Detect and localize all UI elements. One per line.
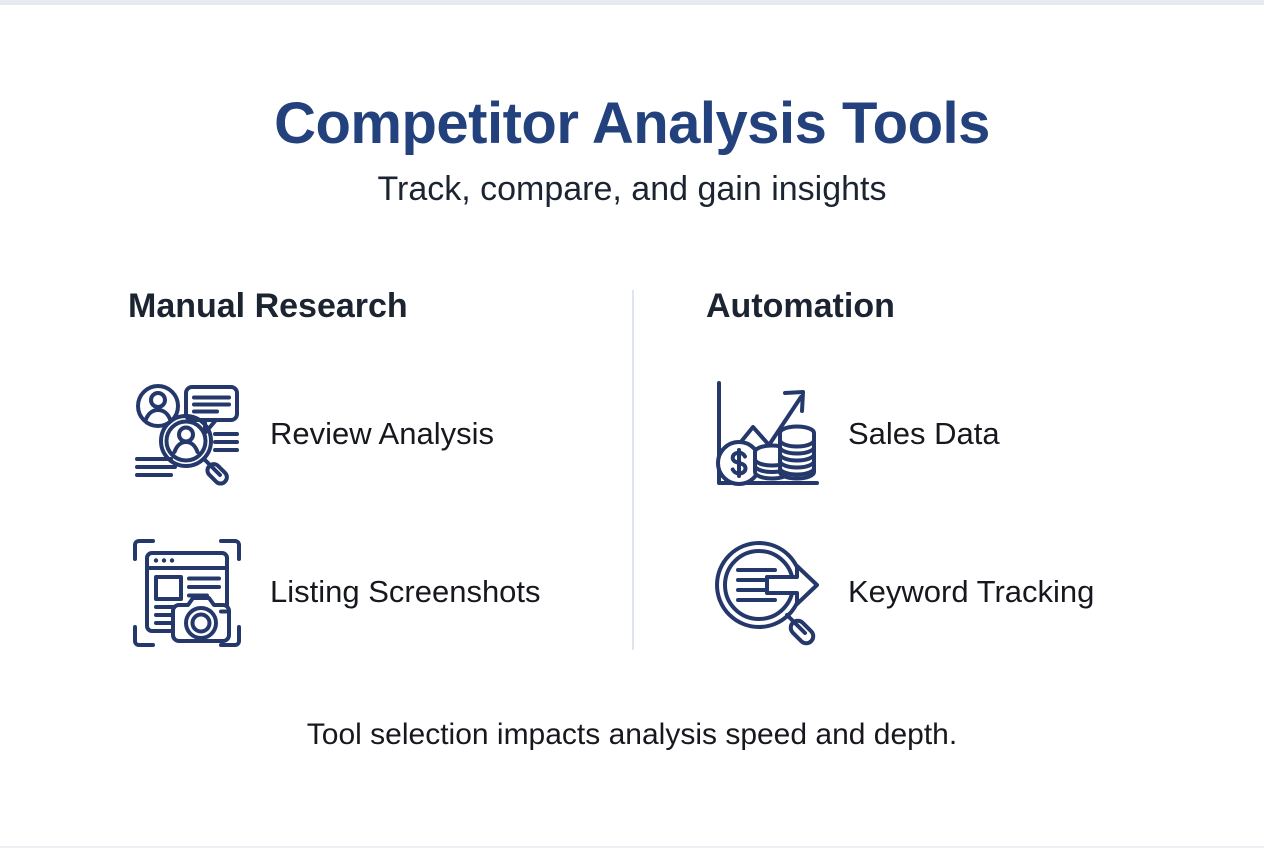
automation-item-list: Sales Data bbox=[706, 372, 1264, 655]
slide-canvas: Competitor Analysis Tools Track, compare… bbox=[0, 0, 1264, 848]
list-item-label: Keyword Tracking bbox=[848, 575, 1094, 609]
listing-screenshots-icon bbox=[128, 534, 246, 652]
list-item-listing-screenshots[interactable]: Listing Screenshots bbox=[128, 530, 632, 655]
column-automation: Automation bbox=[632, 288, 1264, 660]
header: Competitor Analysis Tools Track, compare… bbox=[0, 93, 1264, 209]
column-heading-automation: Automation bbox=[706, 288, 1264, 332]
sales-data-icon bbox=[706, 376, 824, 494]
column-divider bbox=[632, 290, 634, 650]
list-item-label: Listing Screenshots bbox=[270, 575, 541, 609]
manual-research-item-list: Review Analysis bbox=[128, 372, 632, 655]
list-item-keyword-tracking[interactable]: Keyword Tracking bbox=[706, 530, 1264, 655]
list-item-sales-data[interactable]: Sales Data bbox=[706, 372, 1264, 497]
page-title: Competitor Analysis Tools bbox=[0, 93, 1264, 156]
column-heading-manual-research: Manual Research bbox=[128, 288, 632, 332]
list-item-label: Review Analysis bbox=[270, 417, 494, 451]
list-item-review-analysis[interactable]: Review Analysis bbox=[128, 372, 632, 497]
footer-note: Tool selection impacts analysis speed an… bbox=[0, 717, 1264, 753]
page-subtitle: Track, compare, and gain insights bbox=[0, 170, 1264, 209]
column-manual-research: Manual Research bbox=[0, 288, 632, 660]
keyword-tracking-icon bbox=[706, 534, 824, 652]
review-analysis-icon bbox=[128, 376, 246, 494]
list-item-label: Sales Data bbox=[848, 417, 1000, 451]
